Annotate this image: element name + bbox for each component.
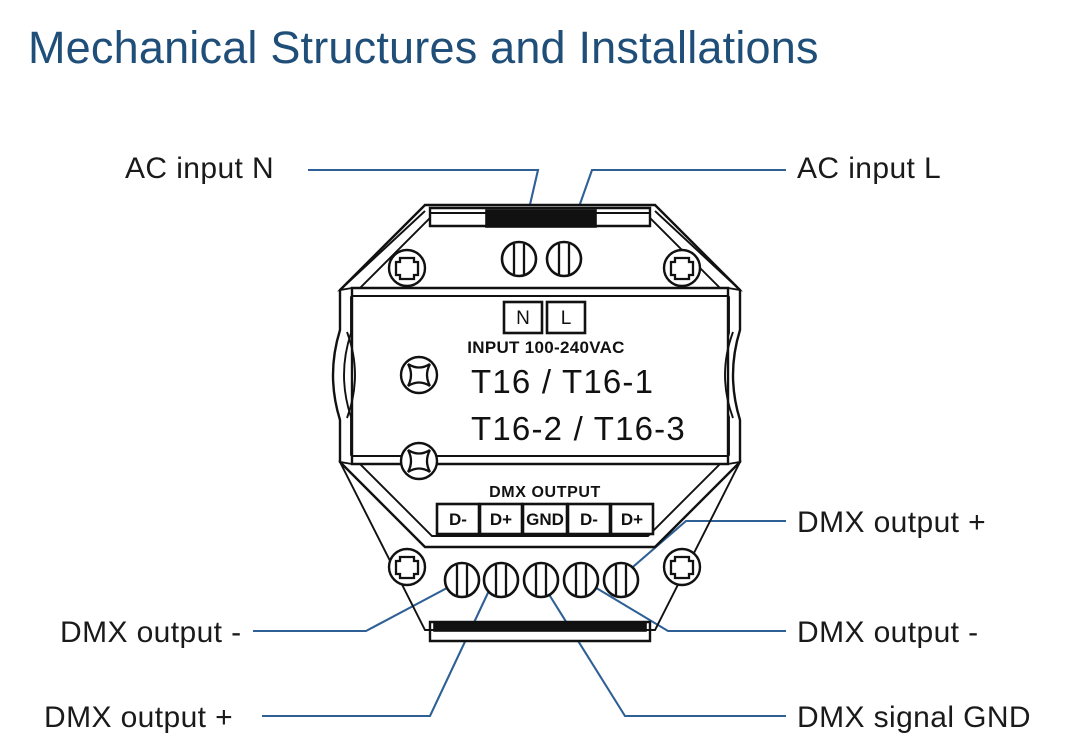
- input-terminal-label-l: L: [561, 308, 572, 329]
- mechanical-structure-diagram: N L INPUT 100-240VAC T16 / T16-1 T16-2 /…: [0, 0, 1092, 749]
- dmx-terminal-label-4: D-: [580, 510, 598, 529]
- callout-ac-input-l: AC input L: [797, 152, 941, 185]
- input-spec-label: INPUT 100-240VAC: [467, 338, 625, 357]
- diagram-page: Mechanical Structures and Installations: [0, 0, 1092, 749]
- dmx-terminal-label-2: D+: [490, 510, 512, 529]
- screw-terminal-dmx-3: [524, 563, 558, 597]
- screw-terminal-dmx-2: [484, 563, 518, 597]
- screw-terminal-dmx-1: [445, 563, 479, 597]
- dmx-terminal-label-3: GND: [526, 510, 564, 529]
- callout-dmx-output-minus-left: DMX output -: [60, 616, 242, 649]
- screw-terminal-ac-n: [502, 242, 536, 276]
- screw-terminal-dmx-5: [604, 563, 638, 597]
- leader-dmx-signal-gnd: [540, 580, 786, 716]
- screw-terminal-ac-l: [547, 242, 581, 276]
- dmx-output-screw-terminals: [445, 563, 638, 597]
- callout-dmx-signal-gnd: DMX signal GND: [797, 701, 1031, 734]
- mount-screw-top-left: [389, 250, 425, 286]
- callout-ac-input-n: AC input N: [125, 152, 274, 185]
- mount-screw-bottom-right: [664, 549, 700, 585]
- dmx-terminal-label-5: D+: [621, 510, 643, 529]
- input-terminal-label-n: N: [516, 308, 530, 329]
- mount-screw-bottom-left: [389, 549, 425, 585]
- leader-dmx-output-plus-left: [262, 580, 494, 716]
- dmx-output-heading: DMX OUTPUT: [489, 484, 601, 501]
- mounting-hole-lower: [401, 443, 437, 479]
- callout-dmx-output-plus-right: DMX output +: [797, 506, 986, 539]
- callout-dmx-output-plus-left: DMX output +: [44, 701, 233, 734]
- screw-terminal-dmx-4: [564, 563, 598, 597]
- mounting-hole-upper: [401, 357, 437, 393]
- model-line-2: T16-2 / T16-3: [471, 410, 686, 447]
- bottom-dark-bar: [434, 623, 646, 631]
- dmx-terminal-label-1: D-: [449, 510, 467, 529]
- model-line-1: T16 / T16-1: [471, 363, 654, 400]
- top-dark-bar: [486, 210, 596, 227]
- mount-screw-top-right: [664, 250, 700, 286]
- callout-dmx-output-minus-right: DMX output -: [797, 616, 979, 649]
